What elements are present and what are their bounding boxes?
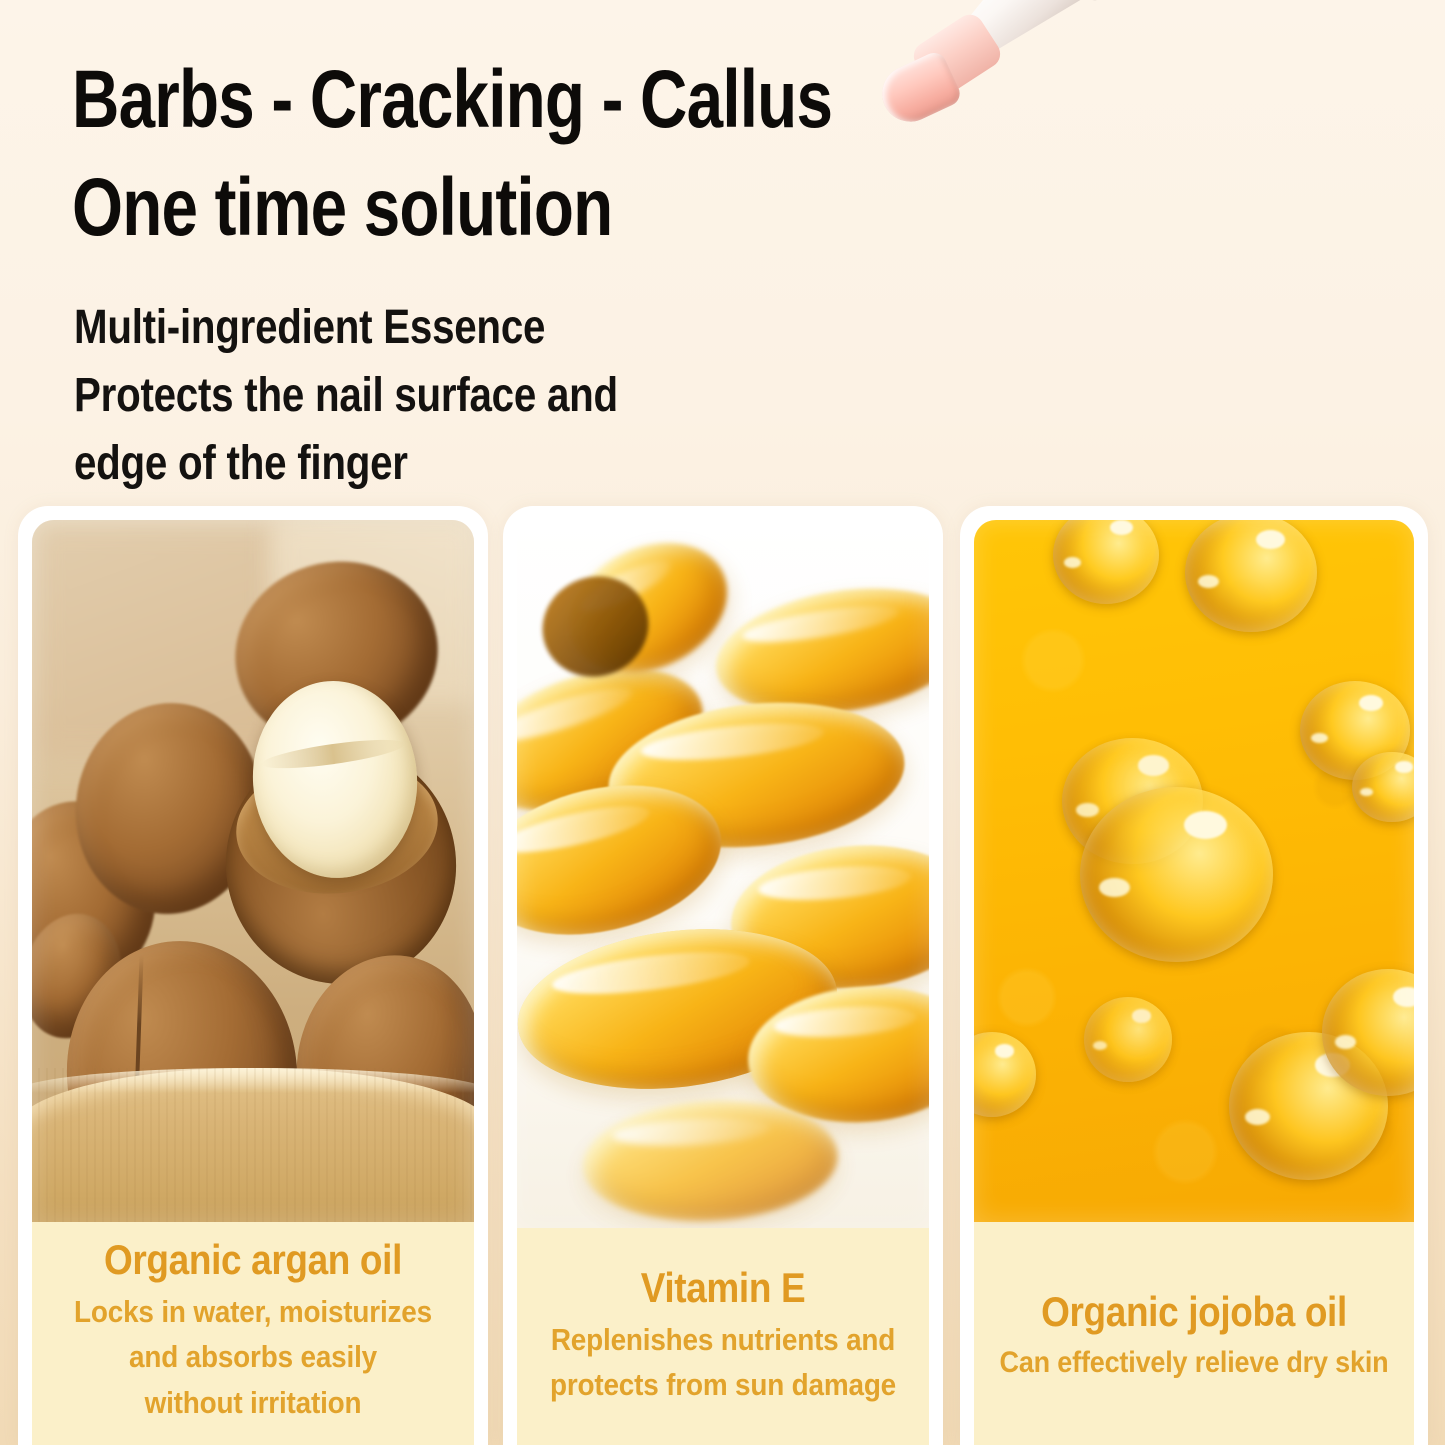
caption-jojoba: Organic jojoba oil Can effectively relie… <box>974 1222 1414 1445</box>
subheading-line-2: Protects the nail surface and <box>74 362 830 430</box>
wood-grain <box>32 1068 474 1222</box>
wooden-bowl <box>32 1068 474 1222</box>
oil-scene <box>974 520 1414 1222</box>
description-line: Locks in water, moisturizes <box>54 1289 452 1334</box>
description-line: and absorbs easily <box>54 1334 452 1379</box>
subheading: Multi-ingredient Essence Protects the na… <box>74 294 830 498</box>
ingredient-description: Locks in water, moisturizes and absorbs … <box>54 1289 452 1425</box>
caption-vitamin-e: Vitamin E Replenishes nutrients and prot… <box>517 1228 929 1445</box>
subheading-line-1: Multi-ingredient Essence <box>74 294 830 362</box>
ingredient-card-vitamin-e[interactable]: Vitamin E Replenishes nutrients and prot… <box>503 506 943 1445</box>
description-line: protects from sun damage <box>538 1362 909 1407</box>
ingredient-title: Vitamin E <box>542 1262 905 1313</box>
nuts-scene <box>32 520 474 1222</box>
page-title: Barbs - Cracking - Callus One time solut… <box>72 46 904 262</box>
ingredient-card-argan[interactable]: Organic argan oil Locks in water, moistu… <box>18 506 488 1445</box>
ingredient-card-list: Organic argan oil Locks in water, moistu… <box>0 506 1445 1445</box>
subheading-line-3: edge of the finger <box>74 430 830 498</box>
photo-macadamia-nuts <box>32 520 474 1222</box>
ingredient-description: Can effectively relieve dry skin <box>996 1341 1392 1385</box>
caption-argan: Organic argan oil Locks in water, moistu… <box>32 1222 474 1445</box>
description-line: without irritation <box>54 1380 452 1425</box>
pen-cone <box>943 0 1098 76</box>
headline-line-1: Barbs - Cracking - Callus <box>72 54 832 145</box>
ingredient-title: Organic jojoba oil <box>1000 1286 1387 1337</box>
ingredient-title: Organic argan oil <box>59 1234 448 1285</box>
pen-body: and vita pen onc jojoba and vit <box>857 0 1411 154</box>
pen-collar <box>1028 0 1181 4</box>
ingredient-card-jojoba[interactable]: Organic jojoba oil Can effectively relie… <box>960 506 1428 1445</box>
description-line: Replenishes nutrients and <box>538 1317 909 1362</box>
softgel-scene <box>517 520 929 1228</box>
oil-bubble <box>1080 787 1274 963</box>
product-photo-cuticle-oil-pen: and vita pen onc jojoba and vit <box>840 0 1445 490</box>
pen-tip-base <box>908 9 1005 100</box>
headline-line-2: One time solution <box>72 154 904 262</box>
photo-vitamin-e-capsules <box>517 520 929 1228</box>
promo-poster: Barbs - Cracking - Callus One time solut… <box>0 0 1445 1445</box>
oil-bubble <box>1084 997 1172 1081</box>
photo-jojoba-oil <box>974 520 1414 1222</box>
ingredient-description: Replenishes nutrients and protects from … <box>538 1317 909 1408</box>
description-line: Can effectively relieve dry skin <box>996 1341 1392 1385</box>
